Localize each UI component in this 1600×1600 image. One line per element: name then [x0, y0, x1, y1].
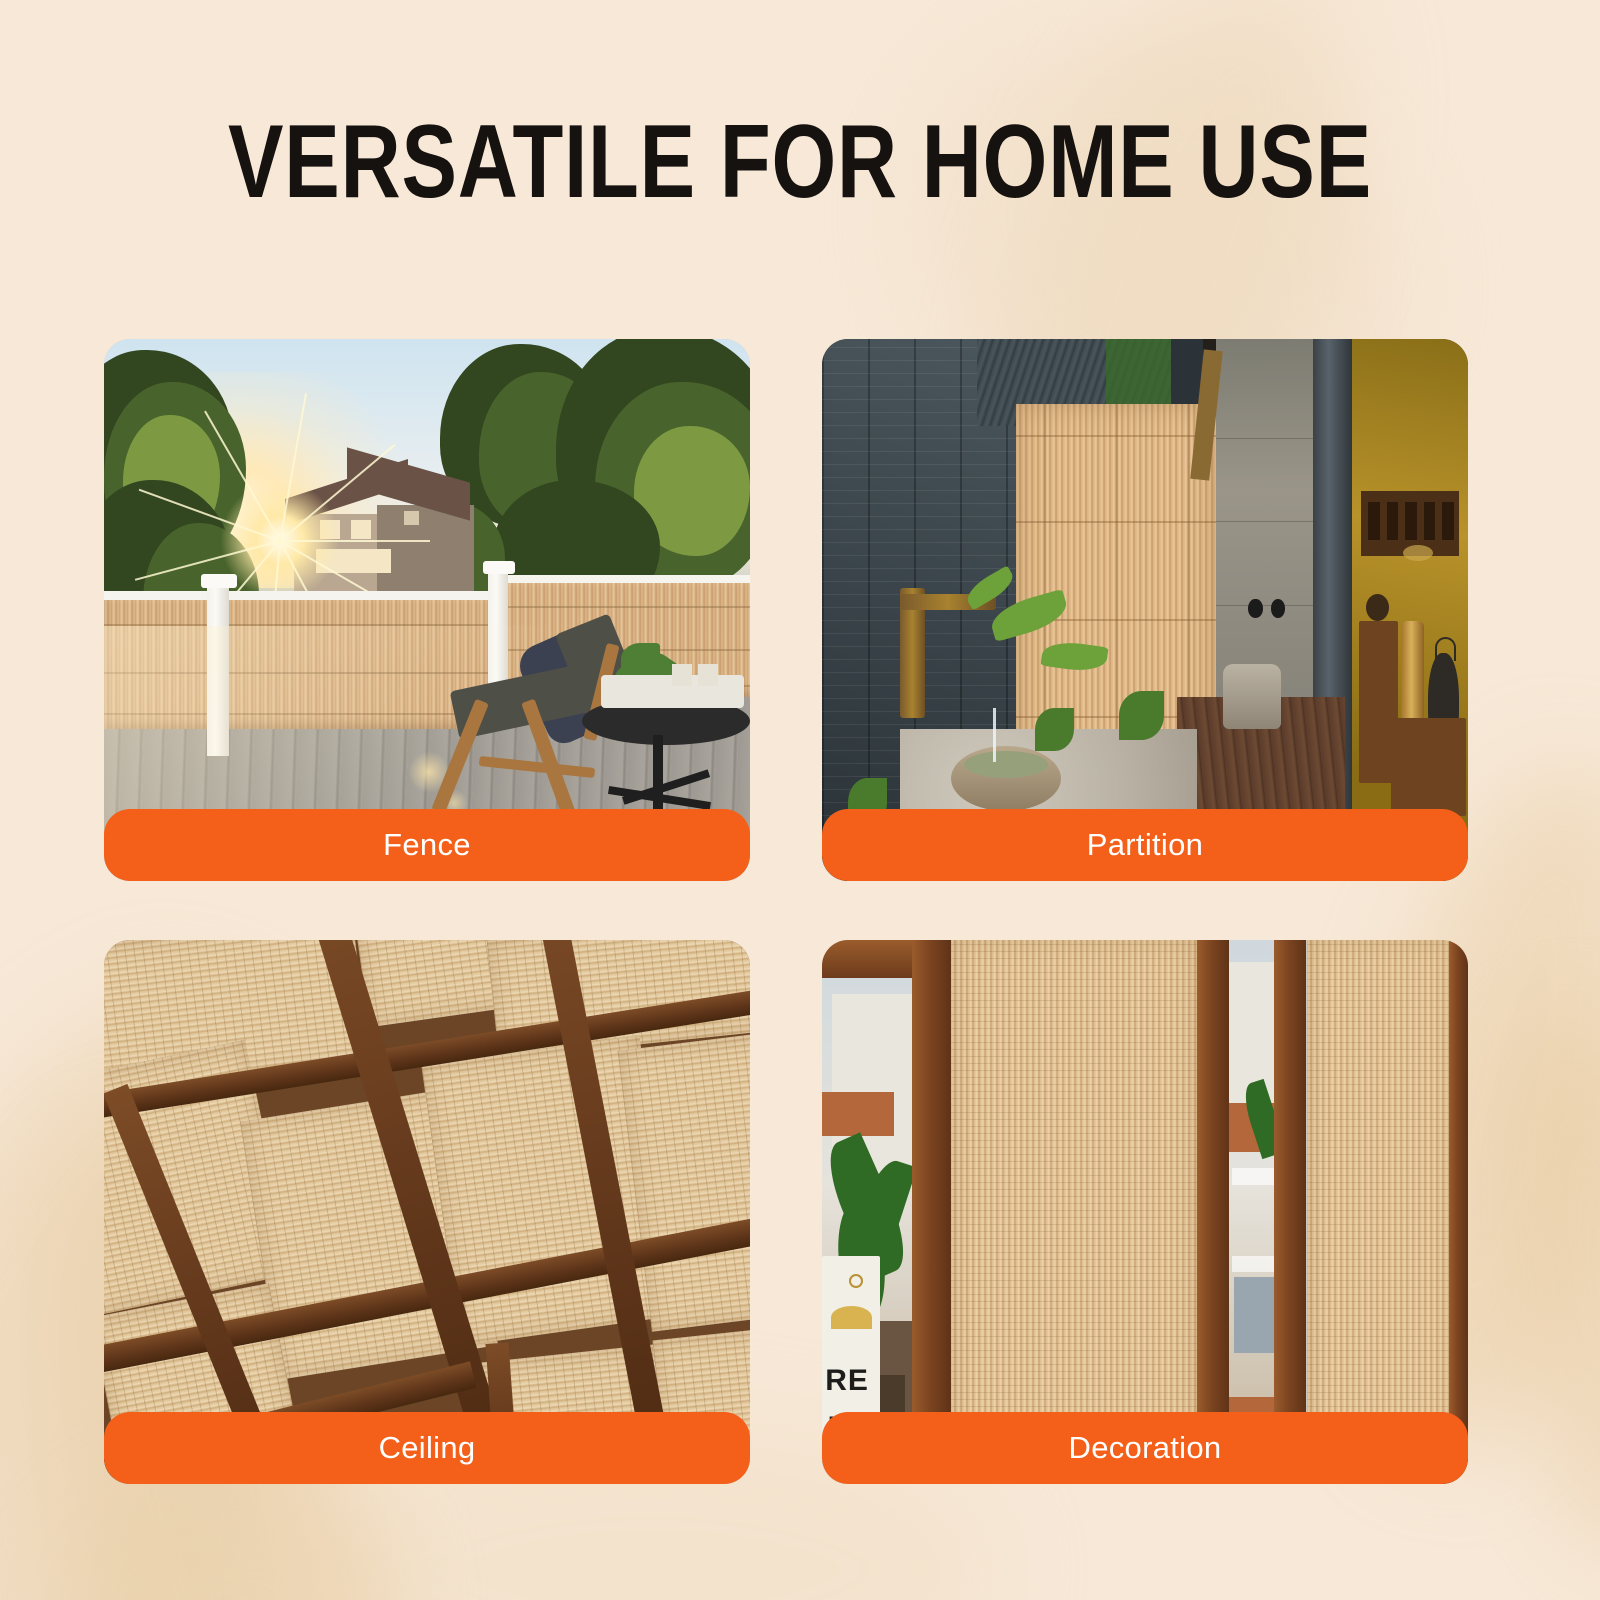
decoration-photo: RE ES: [822, 940, 1468, 1484]
card-label-fence: Fence: [104, 809, 750, 881]
partition-photo: [822, 339, 1468, 881]
fence-photo: [104, 339, 750, 881]
ceiling-photo: [104, 940, 750, 1484]
card-label-ceiling: Ceiling: [104, 1412, 750, 1484]
card-label-partition: Partition: [822, 809, 1468, 881]
page-title: VERSATILE FOR HOME USE: [160, 110, 1440, 214]
card-label-decoration: Decoration: [822, 1412, 1468, 1484]
use-case-card-partition[interactable]: Partition: [822, 339, 1468, 881]
reed-blind-panel-2: [1307, 940, 1456, 1484]
reed-blind-panel: [951, 940, 1196, 1484]
use-case-card-decoration[interactable]: RE ES Decoration: [822, 940, 1468, 1484]
use-case-card-ceiling[interactable]: Ceiling: [104, 940, 750, 1484]
use-case-grid: Fence: [104, 339, 1498, 1484]
sign-line-1: RE: [825, 1364, 869, 1398]
use-case-card-fence[interactable]: Fence: [104, 339, 750, 881]
